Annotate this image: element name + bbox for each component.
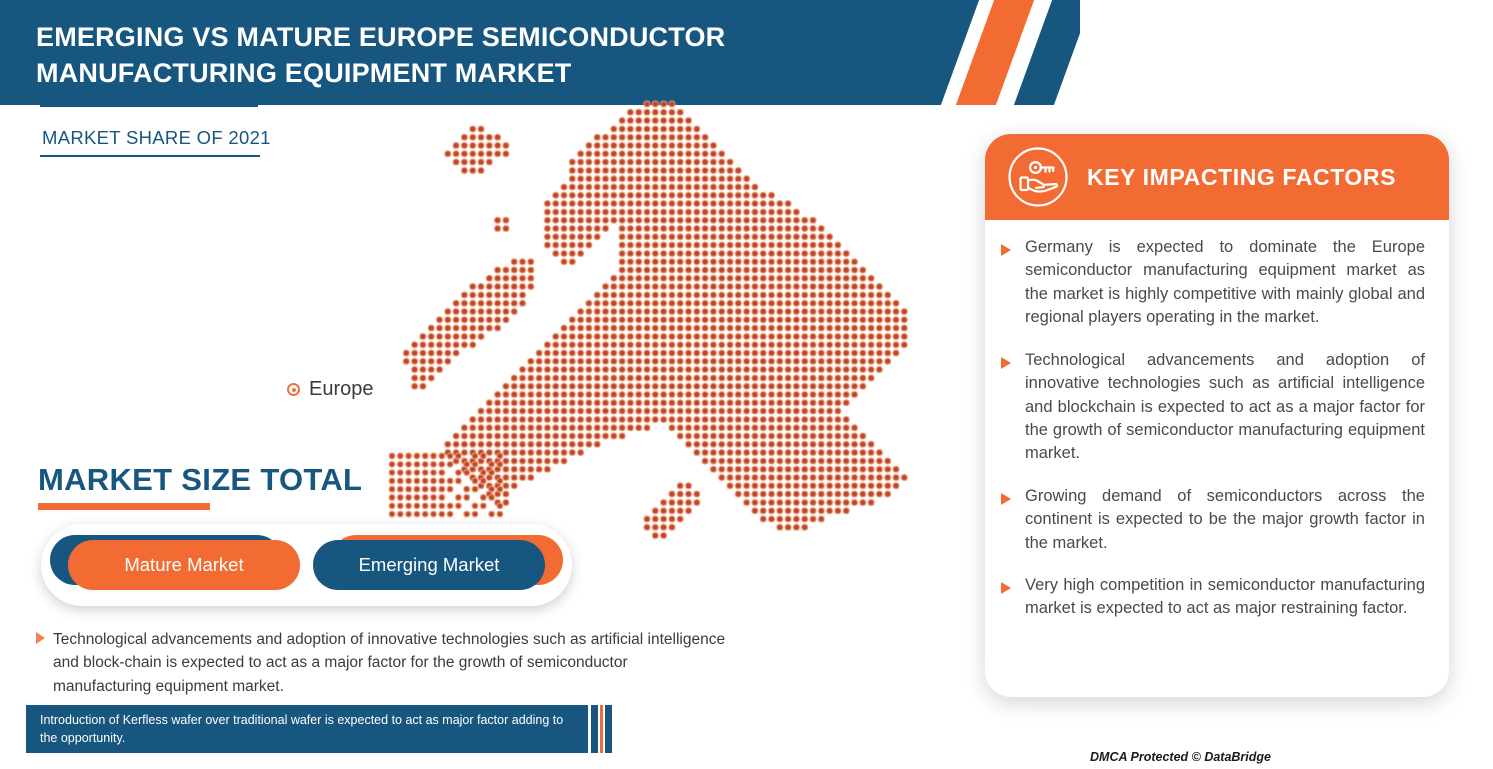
hand-holding-key-icon (1007, 146, 1069, 208)
key-impacting-factors-card: KEY IMPACTING FACTORS Germany is expecte… (985, 134, 1449, 697)
key-bullet-text: Technological advancements and adoption … (1025, 349, 1425, 466)
market-share-block: MARKET SHARE OF 2021 (40, 104, 262, 157)
banner-accent-blue-2 (605, 705, 612, 753)
key-bullet-list: Germany is expected to dominate the Euro… (985, 220, 1449, 650)
map-legend: Europe (287, 378, 374, 401)
key-bullet-item: Very high competition in semiconductor m… (1001, 574, 1425, 621)
map-legend-label: Europe (309, 378, 374, 401)
infographic-canvas: EMERGING VS MATURE EUROPE SEMICONDUCTOR … (0, 0, 1493, 769)
left-note-text: Technological advancements and adoption … (53, 628, 726, 698)
key-bullet-text: Germany is expected to dominate the Euro… (1025, 236, 1425, 330)
target-ring-icon (287, 383, 300, 396)
footer-credit: DMCA Protected © DataBridge (1090, 750, 1271, 764)
key-bullet-item: Germany is expected to dominate the Euro… (1001, 236, 1425, 330)
key-bullet-item: Technological advancements and adoption … (1001, 349, 1425, 466)
key-card-title: KEY IMPACTING FACTORS (1087, 164, 1396, 191)
emerging-market-pill[interactable]: Emerging Market (313, 540, 545, 590)
market-size-total-title: MARKET SIZE TOTAL (38, 462, 362, 498)
market-share-rule-bottom (40, 155, 260, 157)
left-note: Technological advancements and adoption … (36, 628, 726, 698)
page-title: EMERGING VS MATURE EUROPE SEMICONDUCTOR … (36, 20, 866, 91)
bottom-banner: Introduction of Kerfless wafer over trad… (26, 705, 588, 753)
key-bullet-text: Growing demand of semiconductors across … (1025, 485, 1425, 555)
bottom-banner-text: Introduction of Kerfless wafer over trad… (40, 711, 574, 747)
banner-accent-blue (591, 705, 598, 753)
banner-accent-orange (600, 705, 603, 753)
mature-market-pill[interactable]: Mature Market (68, 540, 300, 590)
market-size-total-block: MARKET SIZE TOTAL (38, 462, 362, 510)
key-card-header: KEY IMPACTING FACTORS (985, 134, 1449, 220)
triangle-right-icon (1001, 493, 1011, 505)
decorative-dot-grid (388, 452, 518, 522)
triangle-right-icon (36, 632, 45, 644)
market-size-total-underline (38, 503, 210, 510)
triangle-right-icon (1001, 357, 1011, 369)
key-bullet-text: Very high competition in semiconductor m… (1025, 574, 1425, 621)
market-size-pills-card: Mature Market Emerging Market (41, 524, 572, 606)
triangle-right-icon (1001, 582, 1011, 594)
key-bullet-item: Growing demand of semiconductors across … (1001, 485, 1425, 555)
market-share-label: MARKET SHARE OF 2021 (40, 107, 262, 155)
triangle-right-icon (1001, 244, 1011, 256)
